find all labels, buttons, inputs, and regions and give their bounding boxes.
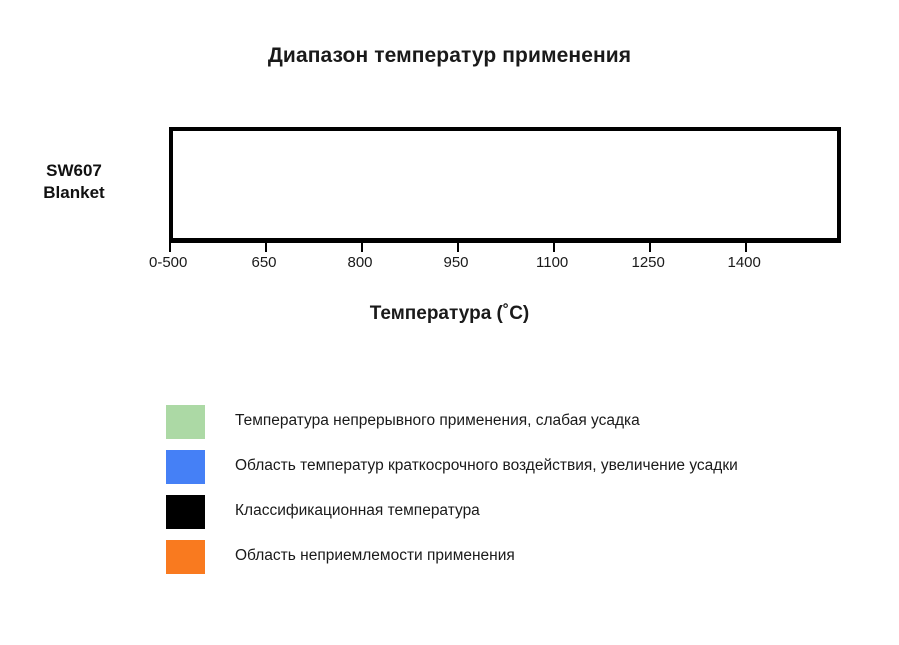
- legend-label: Область температур краткосрочного воздей…: [235, 457, 738, 475]
- x-axis-tick: [553, 242, 555, 252]
- chart-legend: Температура непрерывного применения, сла…: [166, 405, 866, 585]
- legend-label: Область неприемлемости применения: [235, 547, 515, 565]
- x-axis-tick: [649, 242, 651, 252]
- legend-swatch: [166, 405, 205, 439]
- legend-label: Классификационная температура: [235, 502, 480, 520]
- x-axis-tick-label: 0-500: [149, 254, 187, 271]
- x-axis-tick-label: 950: [444, 254, 469, 271]
- legend-item: Область температур краткосрочного воздей…: [166, 450, 866, 495]
- legend-item: Температура непрерывного применения, сла…: [166, 405, 866, 450]
- bar-border: [169, 127, 841, 242]
- chart-title: Диапазон температур применения: [0, 44, 899, 68]
- x-axis-tick: [169, 242, 171, 252]
- x-axis-tick-label: 1400: [728, 254, 761, 271]
- x-axis-line: [169, 240, 841, 243]
- legend-label: Температура непрерывного применения, сла…: [235, 412, 640, 430]
- temperature-range-chart: Диапазон температур применения SW607 Bla…: [0, 0, 899, 645]
- category-label-line-2: Blanket: [0, 182, 148, 204]
- legend-item: Область неприемлемости применения: [166, 540, 866, 585]
- x-axis-tick: [265, 242, 267, 252]
- category-label-line-1: SW607: [0, 160, 148, 182]
- x-axis-tick-label: 1250: [632, 254, 665, 271]
- x-axis-title: Температура (˚C): [0, 303, 899, 325]
- x-axis-tick: [457, 242, 459, 252]
- x-axis-tick-label: 800: [348, 254, 373, 271]
- plot-area: [169, 127, 841, 242]
- x-axis-tick: [745, 242, 747, 252]
- x-axis-tick: [361, 242, 363, 252]
- legend-swatch: [166, 450, 205, 484]
- legend-swatch: [166, 495, 205, 529]
- legend-swatch: [166, 540, 205, 574]
- category-label-sw607-blanket: SW607 Blanket: [0, 160, 148, 204]
- x-axis-tick-label: 650: [252, 254, 277, 271]
- x-axis-tick-label: 1100: [536, 254, 568, 271]
- legend-item: Классификационная температура: [166, 495, 866, 540]
